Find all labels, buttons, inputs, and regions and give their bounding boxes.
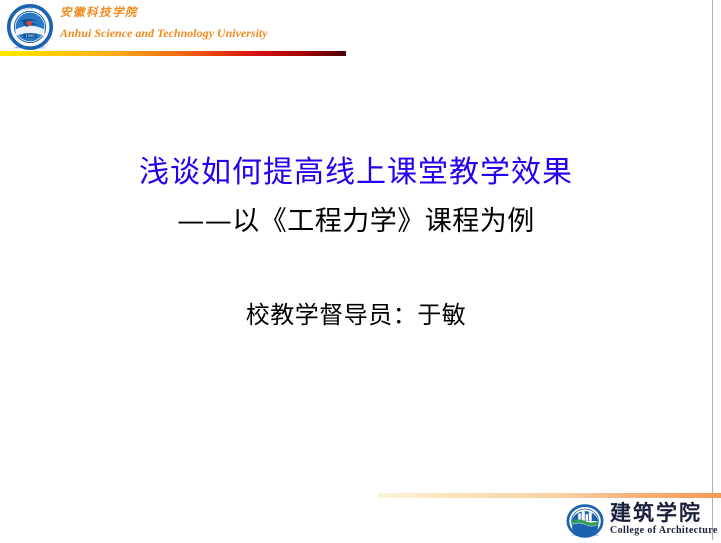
- svg-text:COLLEGE OF ARCHITECTURE: COLLEGE OF ARCHITECTURE: [571, 534, 599, 537]
- slide-right-border: [712, 0, 713, 540]
- college-brand: 建筑学院 College of Architecture: [610, 502, 720, 537]
- presentation-slide: 1950 安 徽 科 技 学 院 ANHUI SCI-TECH UNIVERSI…: [0, 0, 721, 540]
- header-gradient-rule: [0, 51, 346, 56]
- presenter-line: 校教学督导员：于敏: [0, 298, 712, 332]
- anhui-university-seal-icon: 1950 安 徽 科 技 学 院 ANHUI SCI-TECH UNIVERSI…: [6, 3, 54, 51]
- footer-gradient-rule: [378, 493, 721, 498]
- university-name-cn: 安徽科技学院: [60, 6, 360, 21]
- university-name-en: Anhui Science and Technology University: [60, 25, 360, 41]
- slide-header: 1950 安 徽 科 技 学 院 ANHUI SCI-TECH UNIVERSI…: [0, 0, 721, 62]
- page-subtitle: ——以《工程力学》课程为例: [0, 203, 712, 241]
- svg-text:1950: 1950: [25, 34, 35, 38]
- page-title: 浅谈如何提高线上课堂教学效果: [0, 153, 712, 193]
- svg-text:安 徽 科 技 学 院: 安 徽 科 技 学 院: [20, 6, 41, 10]
- university-brand: 安徽科技学院 Anhui Science and Technology Univ…: [60, 6, 360, 41]
- svg-text:ANHUI SCI-TECH UNIVERSITY: ANHUI SCI-TECH UNIVERSITY: [14, 46, 46, 49]
- college-name-cn: 建筑学院: [610, 502, 720, 524]
- college-of-architecture-seal-icon: COLLEGE OF ARCHITECTURE: [566, 504, 604, 538]
- college-name-en: College of Architecture: [610, 525, 720, 537]
